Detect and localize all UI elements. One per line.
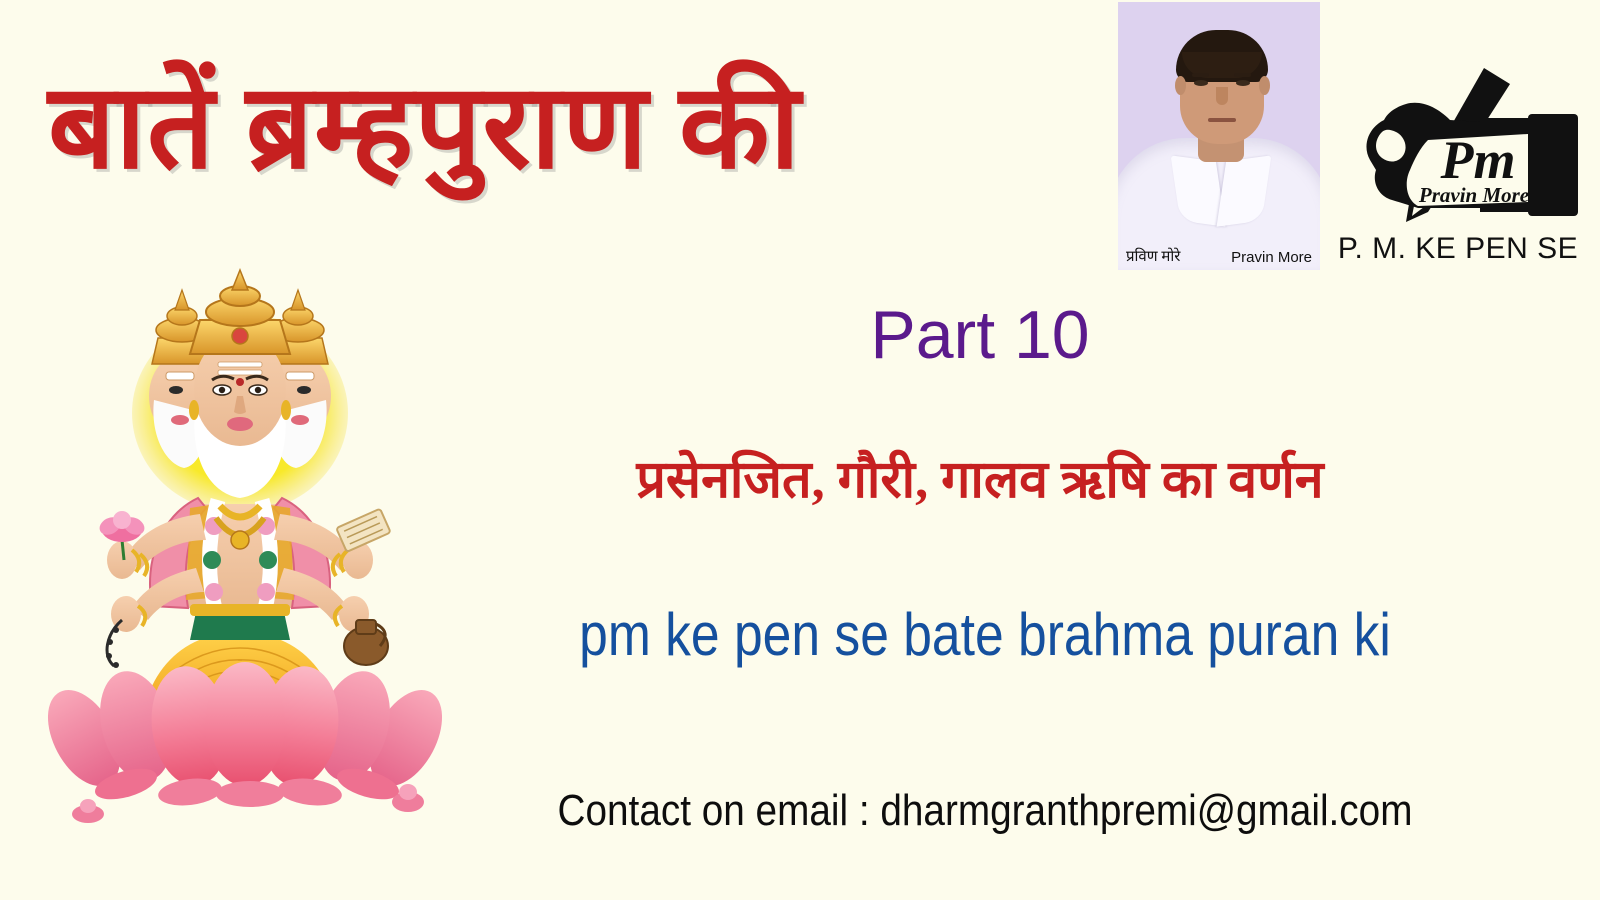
author-name-english: Pravin More (1231, 249, 1312, 266)
hand-holding-pen-icon: Pm Pravin More (1332, 62, 1584, 234)
necklace-pendant (231, 531, 249, 549)
brand-logo-caption: P. M. KE PEN SE (1330, 232, 1586, 266)
contact-email-line: Contact on email : dharmgranthpremi@gmai… (497, 786, 1474, 836)
ear-right (1259, 76, 1270, 95)
eyebrow-right (1234, 73, 1251, 77)
logo-monogram-text: Pm (1440, 130, 1516, 190)
author-name-hindi: प्रविण मोरे (1126, 246, 1180, 266)
logo-signature-text: Pravin More (1418, 183, 1529, 207)
eyebrow-left (1192, 73, 1209, 77)
brahma-lips (227, 417, 253, 431)
video-thumbnail-canvas: बातें ब्रम्हपुराण की प्रविण मोरे Pravin … (0, 0, 1600, 900)
part-number-label: Part 10 (430, 296, 1530, 374)
brahma-center-crown (190, 270, 290, 354)
eye-right (1236, 80, 1250, 86)
nose-shape (1216, 87, 1228, 105)
episode-subtitle: प्रसेनजित, गौरी, गालव ऋषि का वर्णन (430, 442, 1530, 513)
lotus-seat (40, 662, 450, 809)
author-portrait-illustration (1118, 2, 1320, 270)
hair-shape (1176, 30, 1268, 82)
earring-right (281, 400, 291, 420)
brand-logo: Pm Pravin More P. M. KE PEN SE (1330, 62, 1586, 272)
lord-brahma-illustration (40, 268, 450, 828)
author-photo: प्रविण मोरे Pravin More (1118, 2, 1320, 270)
series-transliteration: pm ke pen se bate brahma puran ki (508, 600, 1463, 669)
earring-left (189, 400, 199, 420)
scripture-attribute (336, 509, 390, 552)
page-title: बातें ब्रम्हपुराण की (48, 58, 1088, 197)
mouth-shape (1208, 118, 1236, 122)
ear-left (1175, 76, 1186, 95)
waist-band (190, 604, 290, 616)
green-garment (190, 612, 290, 640)
eye-left (1194, 80, 1208, 86)
